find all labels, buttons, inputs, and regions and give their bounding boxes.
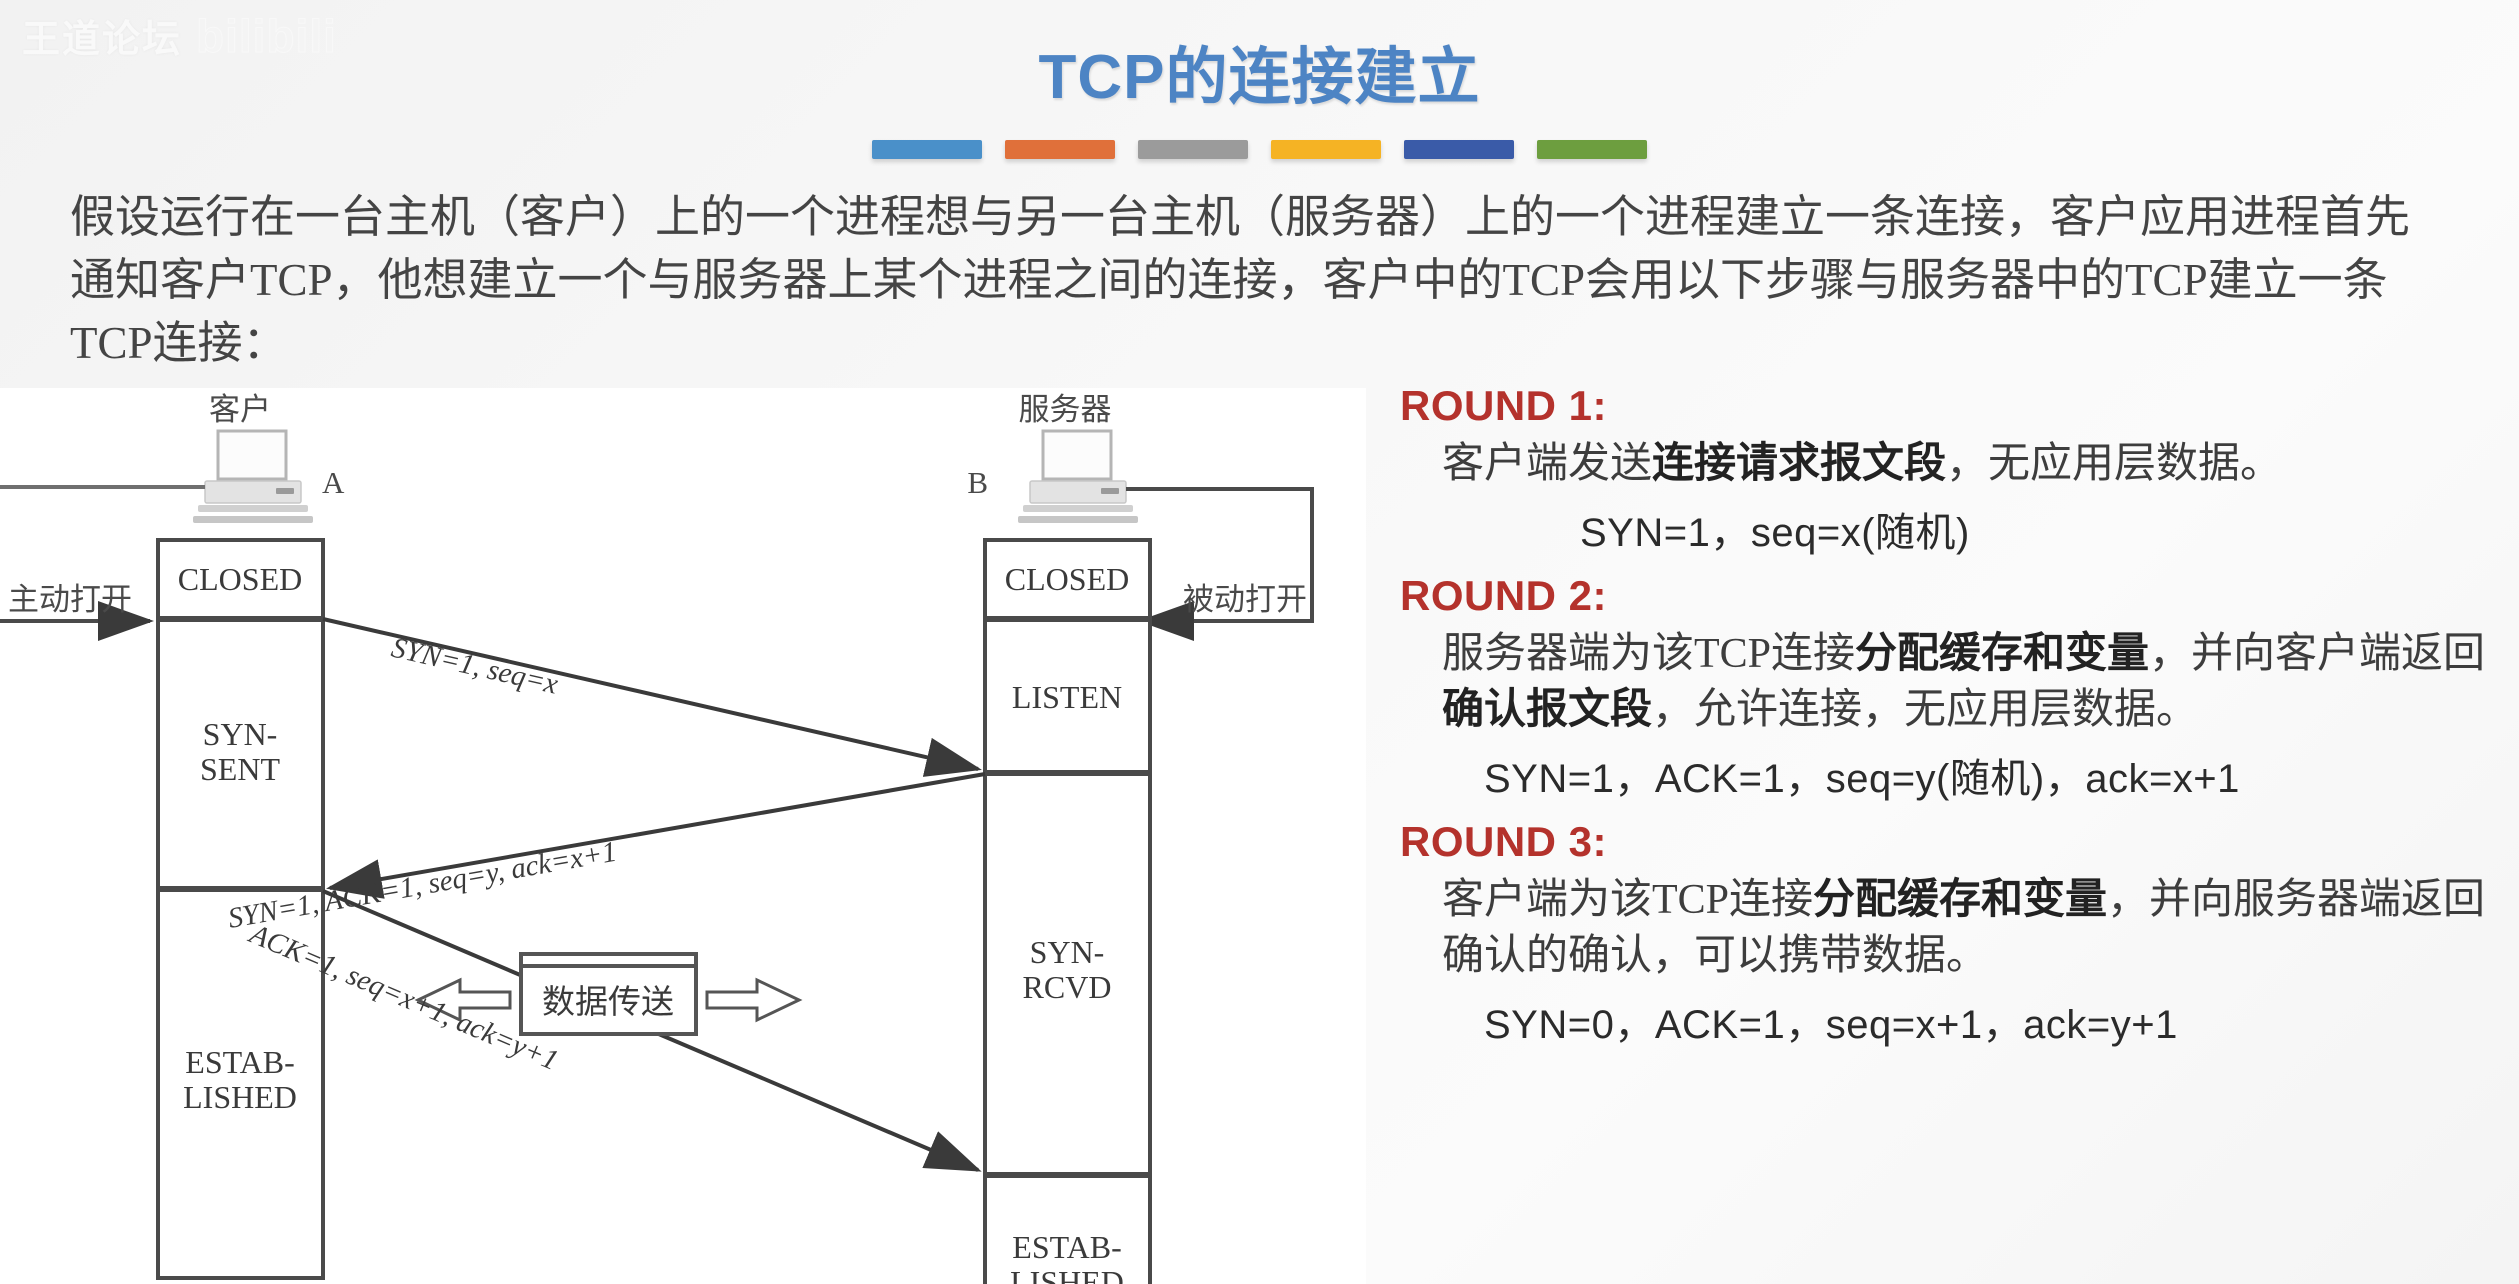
page-title-text: TCP的连接建立 (1038, 43, 1480, 112)
client-state-closed: CLOSED (178, 561, 302, 597)
round-2-body-bold: 分配缓存和变量 (1855, 631, 2149, 677)
client-state-established-2: LISHED (183, 1079, 297, 1115)
round-3-body: 客户端为该TCP连接分配缓存和变量，并向服务器端返回确认的确认，可以携带数据。 (1400, 872, 2500, 984)
accent-bar-1 (872, 140, 982, 159)
round-2-body-mid: ，并向客户端返回 (2149, 631, 2485, 677)
round-3-body-bold: 分配缓存和变量 (1813, 877, 2107, 923)
intro-paragraph: 假设运行在一台主机（客户）上的一个进程想与另一台主机（服务器）上的一个进程建立一… (70, 186, 2450, 375)
server-state-syn-rcvd: SYN- (1030, 934, 1105, 970)
round-3-body-pre: 客户端为该TCP连接 (1442, 877, 1813, 923)
round-1-body-pre: 客户端发送 (1442, 441, 1652, 487)
server-label: 服务器 (1019, 392, 1112, 427)
round-2-body-pre: 服务器端为该TCP连接 (1442, 631, 1855, 677)
client-state-established: ESTAB- (185, 1044, 294, 1080)
accent-bar-4 (1271, 140, 1381, 159)
page-title: TCP的连接建立 (0, 26, 2519, 116)
server-state-listen: LISTEN (1012, 679, 1122, 715)
round-2-body: 服务器端为该TCP连接分配缓存和变量，并向客户端返回确认报文段，允许连接，无应用… (1400, 626, 2500, 738)
client-laptop-icon (193, 431, 313, 523)
server-state-closed: CLOSED (1005, 561, 1129, 597)
rounds-panel: ROUND 1: 客户端发送连接请求报文段，无应用层数据。 SYN=1，seq=… (1400, 382, 2500, 1064)
round-1-body: 客户端发送连接请求报文段，无应用层数据。 (1400, 436, 2500, 492)
accent-bar-3 (1138, 140, 1248, 159)
accent-bar-5 (1404, 140, 1514, 159)
passive-open-label: 被动打开 (1183, 582, 1307, 617)
slide-canvas: 王道论坛 bilibili TCP的连接建立 假设运行在一台主机（客户）上的一个… (0, 0, 2519, 1284)
round-2-heading: ROUND 2: (1400, 572, 2500, 620)
server-state-established: ESTAB- (1012, 1229, 1121, 1265)
active-open-label: 主动打开 (8, 582, 132, 617)
round-2-body-bold2: 确认报文段 (1442, 687, 1652, 733)
round-3-formula: SYN=0，ACK=1，seq=x+1，ack=y+1 (1400, 992, 2500, 1050)
client-state-syn-sent: SYN- (203, 716, 278, 752)
server-state-syn-rcvd-2: RCVD (1023, 969, 1112, 1005)
accent-bar-6 (1537, 140, 1647, 159)
round-1-formula: SYN=1，seq=x(随机) (1400, 500, 2500, 558)
round-1-body-bold: 连接请求报文段 (1652, 441, 1946, 487)
title-accent-bars (0, 140, 2519, 159)
round-2-body-post: ，允许连接，无应用层数据。 (1652, 687, 2198, 733)
round-2-block: ROUND 2: 服务器端为该TCP连接分配缓存和变量，并向客户端返回确认报文段… (1400, 572, 2500, 804)
round-1-block: ROUND 1: 客户端发送连接请求报文段，无应用层数据。 SYN=1，seq=… (1400, 382, 2500, 558)
server-host-label: B (967, 465, 988, 500)
client-label: 客户 (209, 392, 271, 427)
round-3-heading: ROUND 3: (1400, 818, 2500, 866)
data-transfer-label: 数据传送 (542, 984, 674, 1021)
client-host-label: A (322, 465, 345, 500)
round-1-heading: ROUND 1: (1400, 382, 2500, 430)
server-laptop-icon (1018, 431, 1138, 523)
round-3-block: ROUND 3: 客户端为该TCP连接分配缓存和变量，并向服务器端返回确认的确认… (1400, 818, 2500, 1050)
server-state-established-2: LISHED (1010, 1264, 1124, 1284)
message-1-label: SYN=1, seq=x (388, 632, 561, 701)
round-1-body-post: ，无应用层数据。 (1946, 441, 2282, 487)
client-state-syn-sent-2: SENT (200, 751, 280, 787)
accent-bar-2 (1005, 140, 1115, 159)
round-2-formula: SYN=1，ACK=1，seq=y(随机)，ack=x+1 (1400, 746, 2500, 804)
tcp-handshake-diagram: 客户 A 服务器 B 主动打开 被动打开 CLOSED SYN- SENT ES… (0, 388, 1366, 1284)
